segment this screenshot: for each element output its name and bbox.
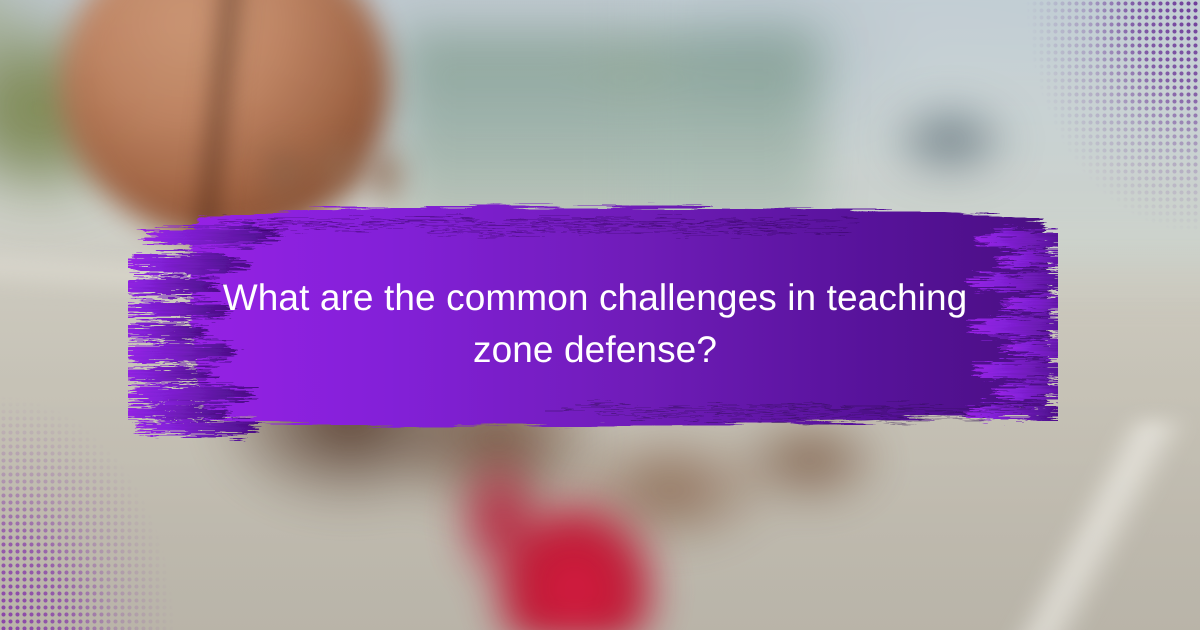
social-card: What are the common challenges in teachi… (0, 0, 1200, 630)
headline-text: What are the common challenges in teachi… (160, 272, 1030, 376)
